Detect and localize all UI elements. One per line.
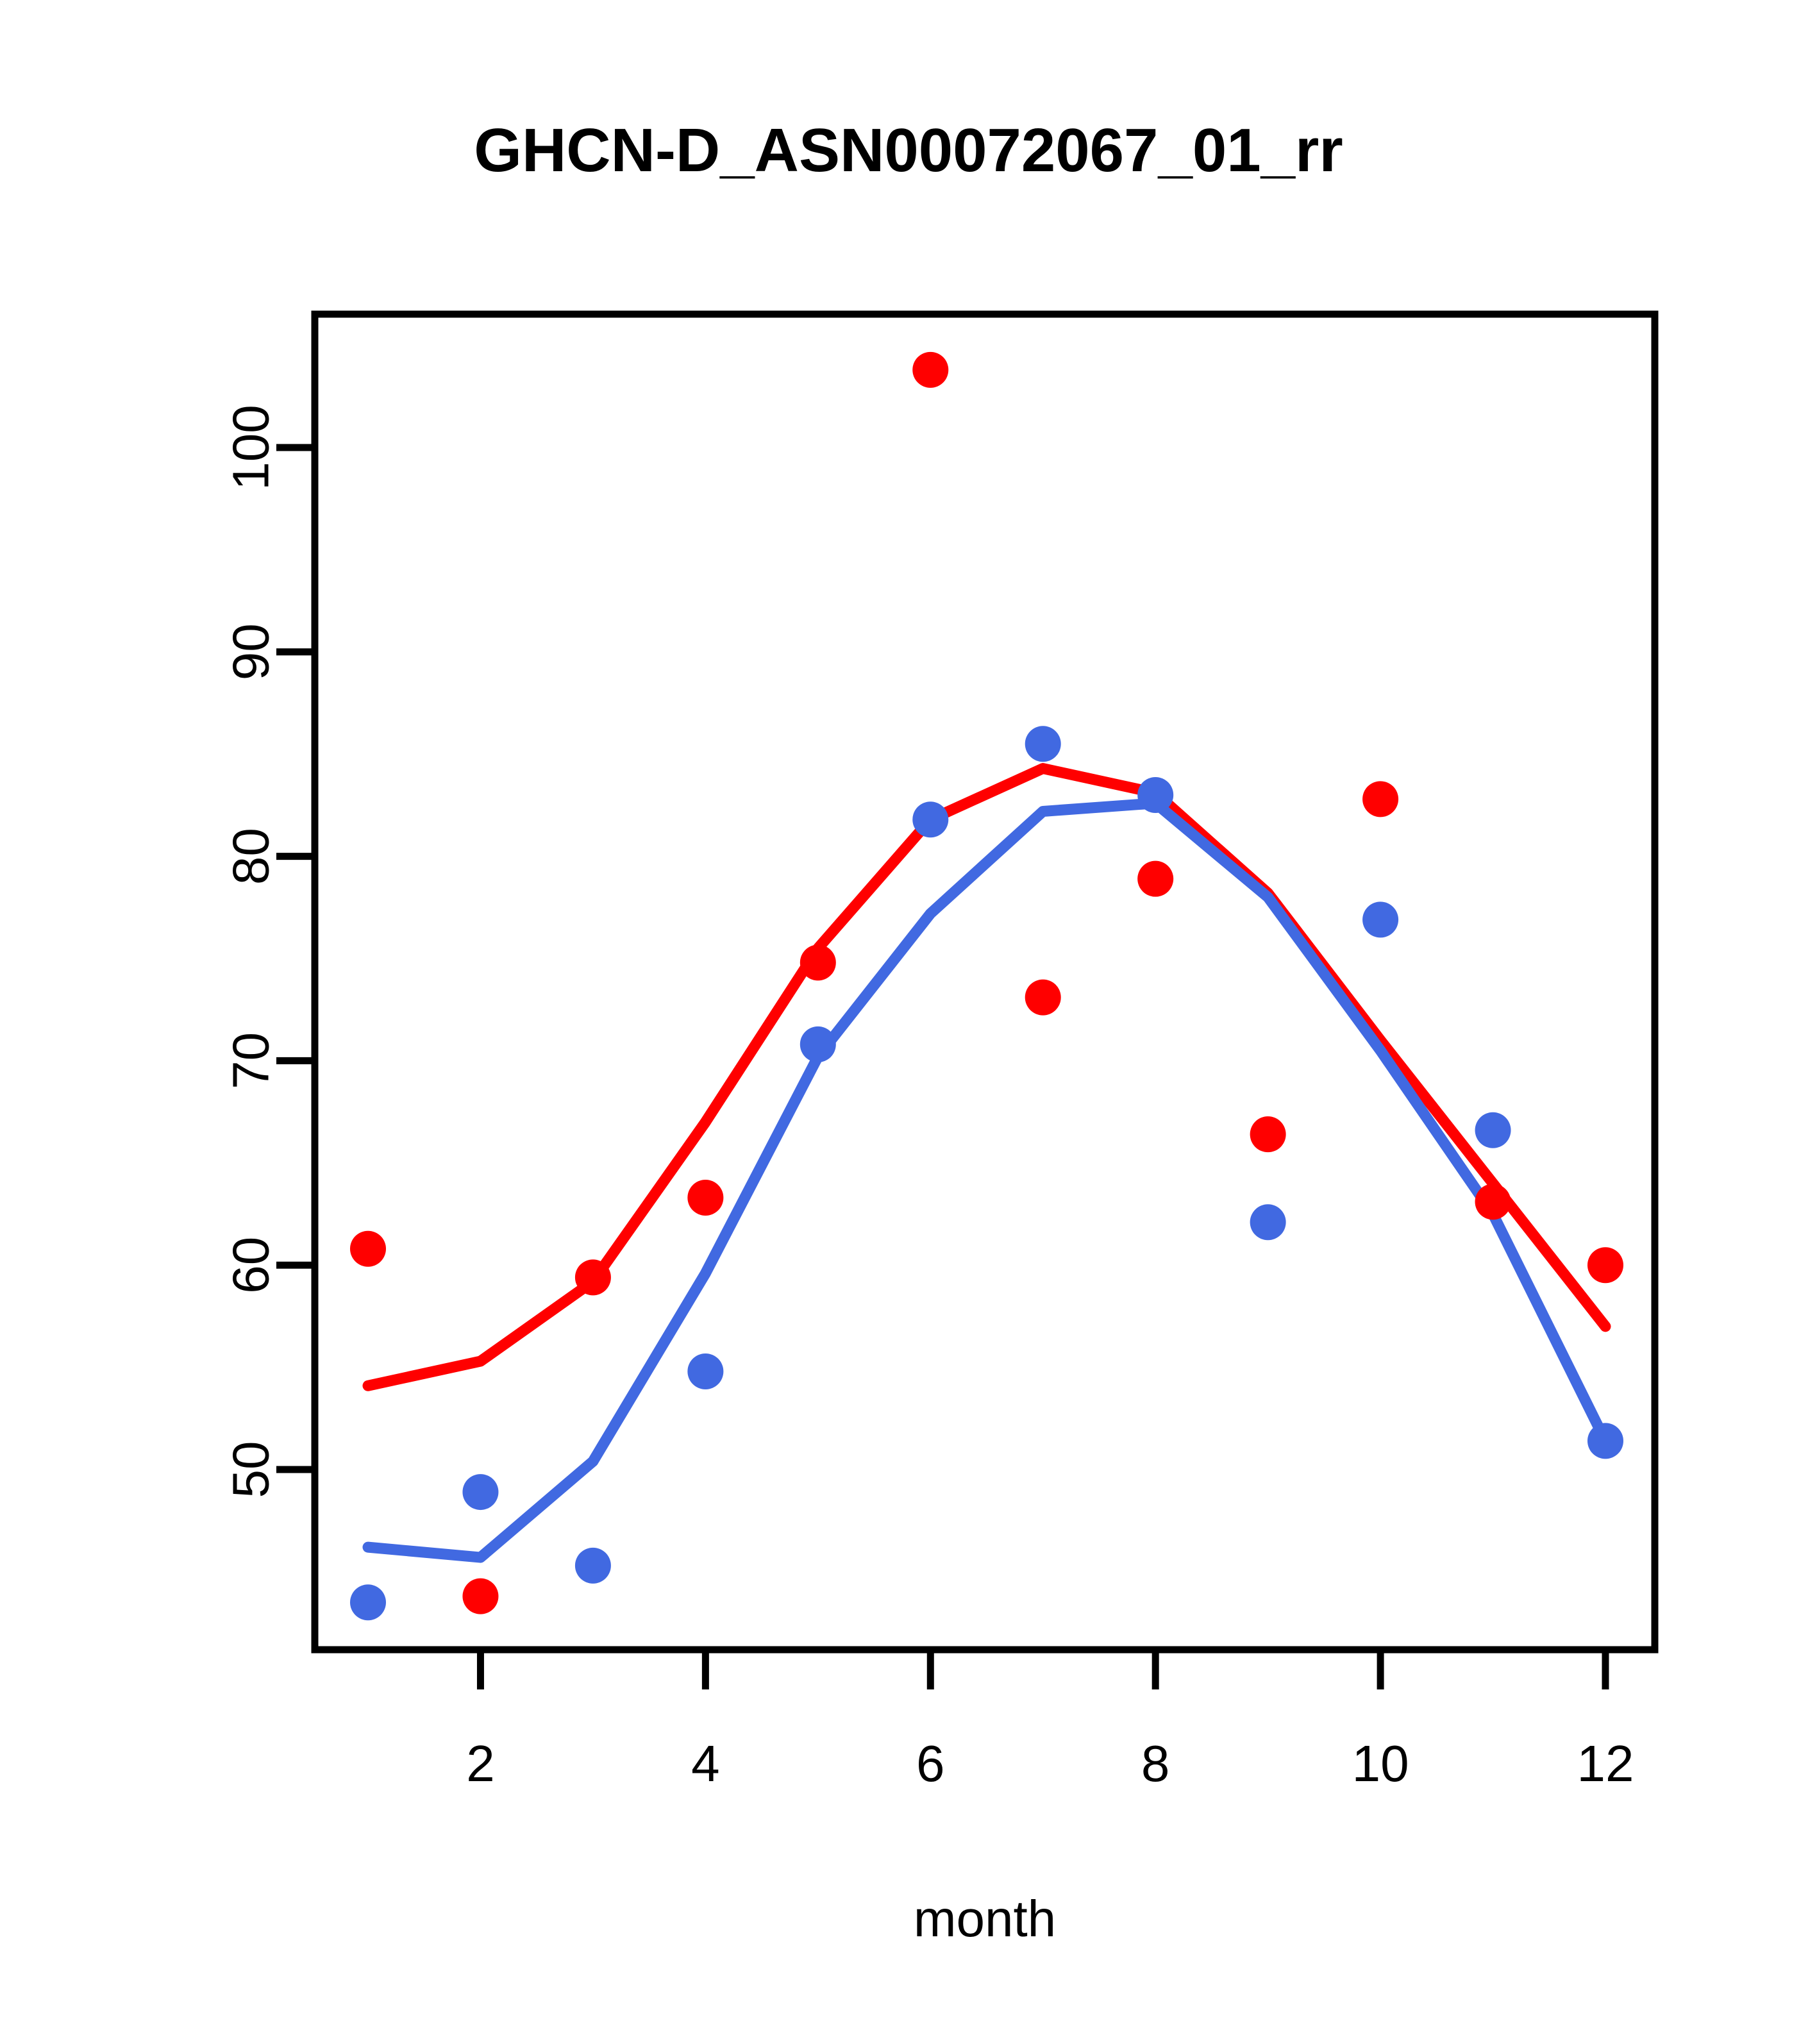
blue-points-marker [462, 1474, 498, 1510]
blue-line [368, 803, 1605, 1557]
blue-points-marker [1587, 1423, 1623, 1459]
plot-frame [315, 314, 1655, 1650]
red-points-marker [1025, 980, 1061, 1016]
y-tick-label: 80 [222, 828, 280, 885]
plot-area: 5060708090100 24681012 month [0, 0, 1817, 2044]
blue-points-marker [1137, 777, 1173, 813]
red-points-marker [800, 944, 836, 980]
blue-points-marker [350, 1584, 386, 1620]
y-axis: 5060708090100 [222, 405, 315, 1498]
red-points-marker [1475, 1184, 1511, 1219]
y-tick-label: 50 [222, 1441, 280, 1498]
red-points-marker [1587, 1247, 1623, 1283]
x-tick-label: 12 [1577, 1735, 1634, 1792]
blue-points-marker [1362, 901, 1398, 937]
red-points-marker [462, 1579, 498, 1614]
blue-points-marker [800, 1026, 836, 1062]
x-tick-label: 6 [916, 1735, 945, 1792]
y-tick-label: 60 [222, 1237, 280, 1294]
red-points-marker [1362, 781, 1398, 817]
red-points-marker [1137, 861, 1173, 897]
x-tick-label: 8 [1141, 1735, 1170, 1792]
blue-points-marker [575, 1548, 611, 1584]
red-points-marker [1250, 1116, 1286, 1152]
blue-points-marker [1250, 1204, 1286, 1240]
x-tick-label: 4 [691, 1735, 720, 1792]
blue-points-marker [1025, 726, 1061, 762]
y-tick-label: 70 [222, 1032, 280, 1089]
y-tick-label: 90 [222, 623, 280, 680]
x-tick-label: 10 [1352, 1735, 1409, 1792]
blue-points-marker [1475, 1112, 1511, 1148]
red-points-marker [687, 1180, 723, 1216]
blue-points-marker [912, 801, 948, 837]
y-tick-label: 100 [222, 405, 280, 490]
x-axis: 24681012 [466, 1650, 1634, 1792]
blue-points-marker [687, 1353, 723, 1389]
red-points-marker [575, 1259, 611, 1295]
x-axis-title: month [914, 1890, 1056, 1947]
chart-page: GHCN-D_ASN00072067_01_rr 5060708090100 2… [0, 0, 1817, 2044]
x-tick-label: 2 [466, 1735, 495, 1792]
data-series [350, 352, 1623, 1620]
red-points-marker [350, 1231, 386, 1267]
red-points-marker [912, 352, 948, 388]
